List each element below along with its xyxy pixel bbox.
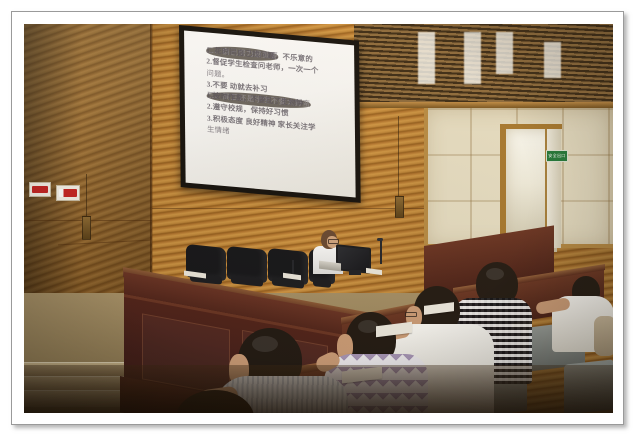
screen-surface: 二、自己努力最重要 1. 花时间自己找问题，不乐意的 2.督促学生检查问老师，一… [184,30,356,197]
louvre-light-gap [418,32,435,84]
wall-speaker-fixture [395,196,404,218]
hair-highlight [252,336,278,352]
microphone-stand [380,240,382,264]
wooden-louvre-screen [354,24,613,104]
slide-content: 二、自己努力最重要 1. 花时间自己找问题，不乐意的 2.督促学生检查问老师，一… [206,44,347,146]
monitor-screen [338,246,369,271]
wall-panel-seam [152,208,427,209]
louvre-light-gap [496,32,513,74]
microphone-stand [292,260,294,274]
wall-cable [86,174,87,218]
dais-chair [227,246,267,283]
notice-sign-text-block [32,186,48,193]
wall-cable [398,116,399,198]
louvre-light-gap [544,42,561,78]
wall-speaker-fixture [82,216,91,240]
hair-highlight [486,268,504,280]
dais-chair [268,248,308,285]
cream-wall-edge [424,108,428,248]
projection-screen: 二、自己努力最重要 1. 花时间自己找问题，不乐意的 2.督促学生检查问老师，一… [179,25,361,203]
audience-bag [594,316,613,356]
photograph: 安全出口 二、自己努力最重要 1. 花时间自己找问题，不乐意的 2.督促学生检查… [24,24,613,413]
exit-sign: 安全出口 [546,150,568,162]
screenshot-root: 安全出口 二、自己努力最重要 1. 花时间自己找问题，不乐意的 2.督促学生检查… [0,0,640,443]
glasses-icon [405,312,417,317]
notice-sign-right [56,185,80,201]
monitor-stand [349,270,361,275]
notice-sign-text-block [59,189,77,197]
glasses-icon [328,239,339,244]
door-header [500,124,562,129]
louvre-light-gap [464,32,481,84]
hair-highlight [358,320,378,333]
notice-sign-left [29,182,51,197]
microphone-head [377,238,383,241]
exit-sign-label: 安全出口 [548,154,565,158]
foreground-shadow [24,365,613,413]
